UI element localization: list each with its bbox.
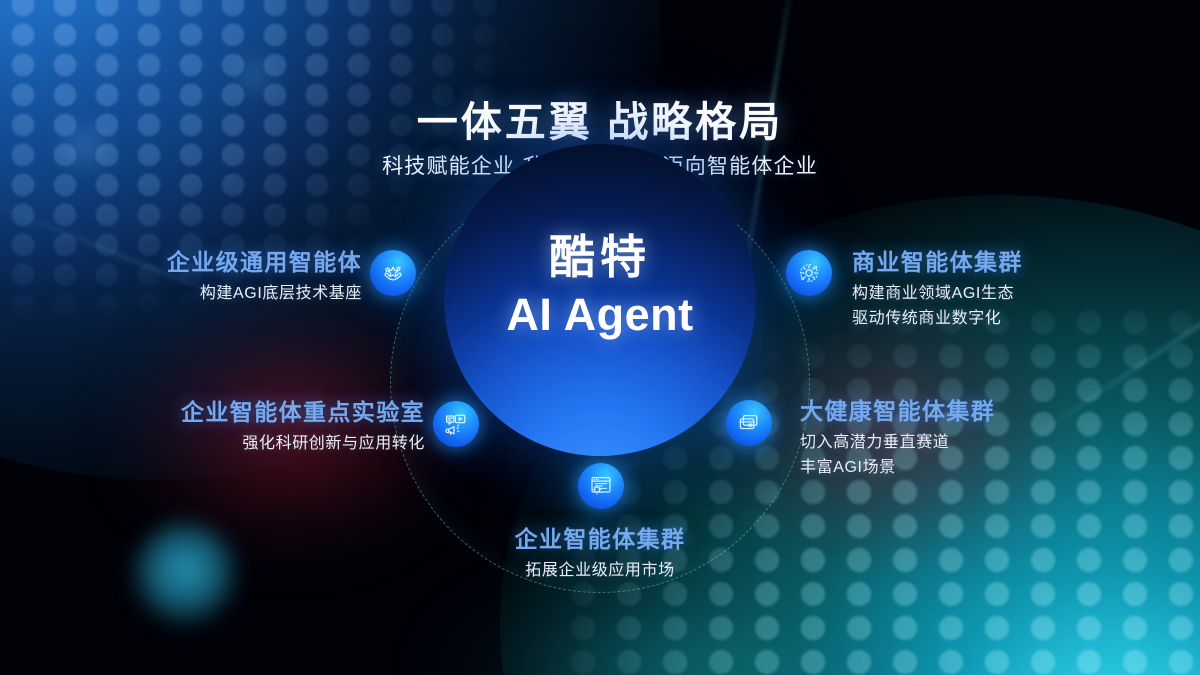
- node-line-health-agent-cluster-0: 切入高潜力垂直赛道: [800, 431, 995, 456]
- node-heading-enterprise-agent-cluster: 企业智能体集群: [515, 525, 686, 554]
- center-hub-name-en: AI Agent: [444, 288, 756, 343]
- cards-stack-icon: [735, 409, 763, 437]
- node-heading-key-laboratory: 企业智能体重点实验室: [181, 398, 425, 427]
- node-line-general-agent-0: 构建AGI底层技术基座: [167, 282, 362, 307]
- hands-holding-stars-icon: [379, 259, 407, 287]
- node-text-enterprise-agent-cluster: 企业智能体集群 拓展企业级应用市场: [515, 525, 686, 584]
- node-heading-general-agent: 企业级通用智能体: [167, 248, 362, 277]
- center-hub-text: 酷特 AI Agent: [444, 230, 756, 343]
- node-line-key-laboratory-0: 强化科研创新与应用转化: [181, 432, 425, 457]
- center-hub[interactable]: 酷特 AI Agent: [444, 144, 756, 456]
- node-text-health-agent-cluster: 大健康智能体集群 切入高潜力垂直赛道 丰富AGI场景: [800, 397, 995, 480]
- bokeh-circle-large: [135, 524, 235, 624]
- node-line-health-agent-cluster-1: 丰富AGI场景: [800, 456, 995, 481]
- node-badge-health-agent-cluster[interactable]: [726, 400, 772, 446]
- node-heading-health-agent-cluster: 大健康智能体集群: [800, 397, 995, 426]
- slide-title: 一体五翼 战略格局: [0, 88, 1200, 148]
- node-line-business-agent-cluster-0: 构建商业领域AGI生态: [852, 282, 1023, 307]
- node-heading-business-agent-cluster: 商业智能体集群: [852, 248, 1023, 277]
- node-text-general-agent: 企业级通用智能体 构建AGI底层技术基座: [167, 248, 362, 307]
- center-hub-name-cn: 酷特: [444, 230, 756, 284]
- node-badge-key-laboratory[interactable]: [433, 401, 479, 447]
- node-badge-business-agent-cluster[interactable]: [786, 250, 832, 296]
- node-badge-enterprise-agent-cluster[interactable]: [578, 463, 624, 509]
- megaphone-media-icon: [442, 410, 470, 438]
- gear-orbit-icon: [795, 259, 823, 287]
- node-text-business-agent-cluster: 商业智能体集群 构建商业领域AGI生态 驱动传统商业数字化: [852, 248, 1023, 331]
- node-line-enterprise-agent-cluster-0: 拓展企业级应用市场: [515, 559, 686, 584]
- node-text-key-laboratory: 企业智能体重点实验室 强化科研创新与应用转化: [181, 398, 425, 457]
- node-line-business-agent-cluster-1: 驱动传统商业数字化: [852, 307, 1023, 332]
- light-streak-right: [1015, 213, 1200, 450]
- browser-gear-icon: [587, 472, 615, 500]
- slide-canvas: 一体五翼 战略格局 科技赋能企业 升级传统企业 迈向智能体企业 酷特 AI Ag…: [0, 0, 1200, 675]
- node-badge-general-agent[interactable]: [370, 250, 416, 296]
